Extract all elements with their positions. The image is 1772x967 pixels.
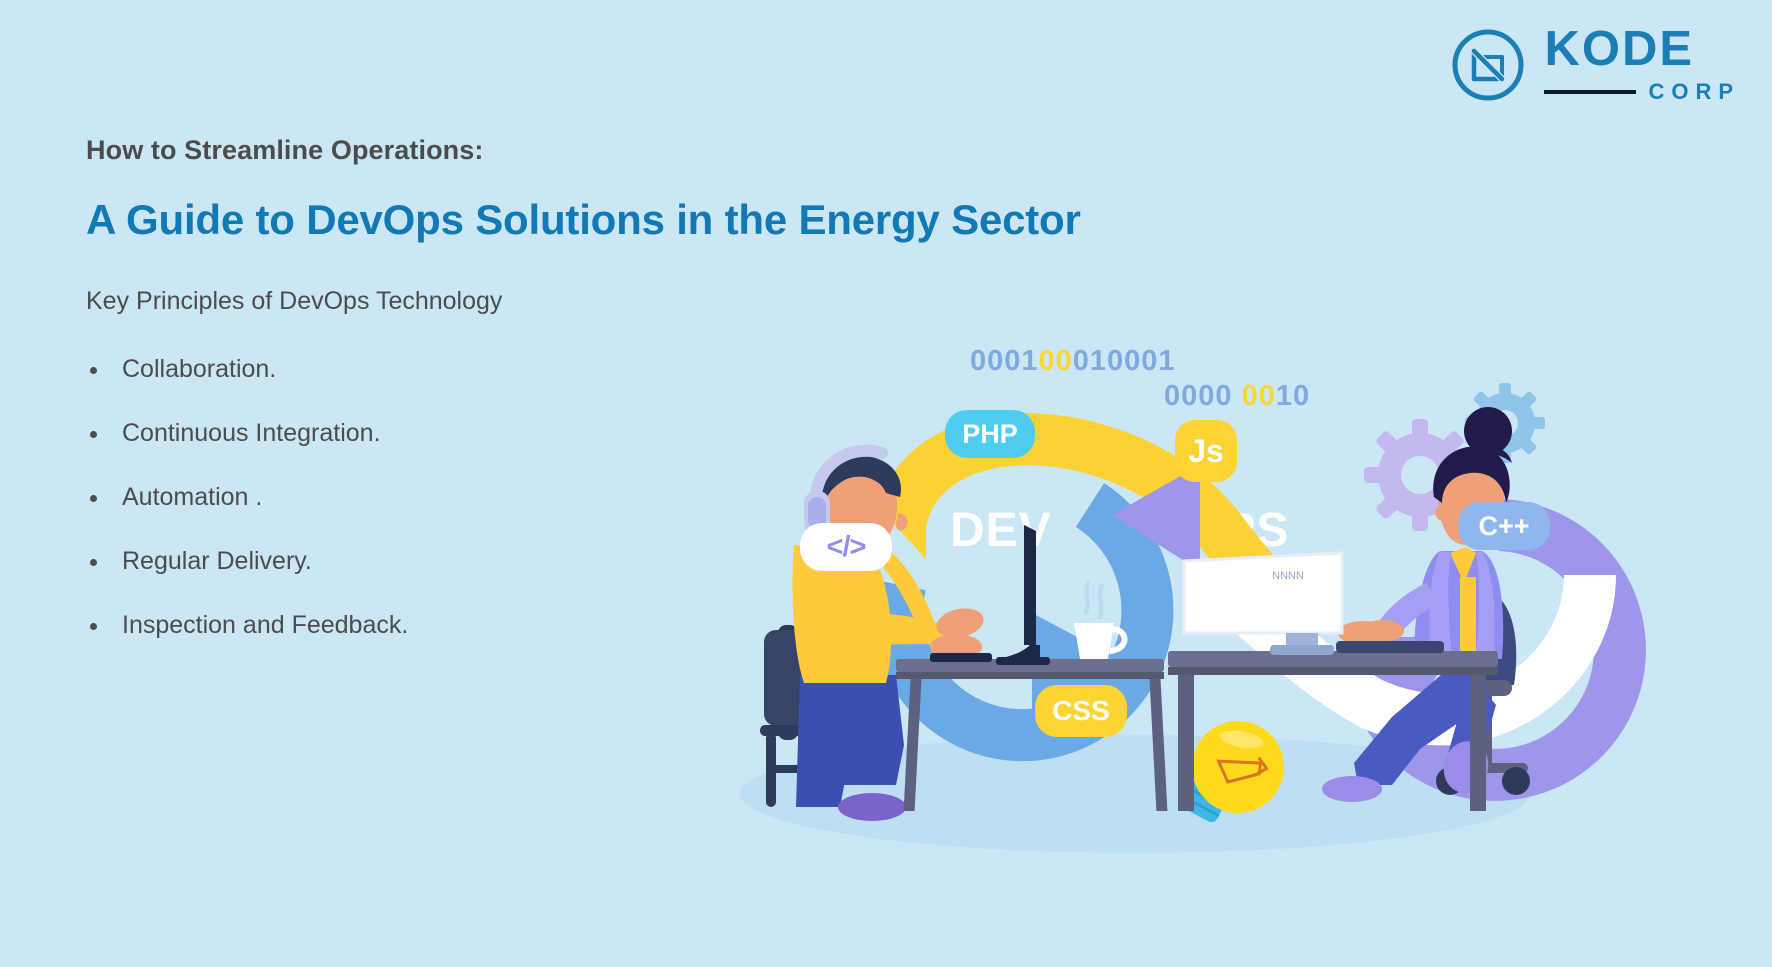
- principles-list: Collaboration. Continuous Integration. A…: [86, 355, 408, 675]
- list-item: Continuous Integration.: [86, 419, 408, 448]
- operator-right-scene: NNNN: [800, 345, 1760, 905]
- code-brackets-icon[interactable]: </>: [800, 523, 892, 571]
- list-item: Inspection and Feedback.: [86, 611, 408, 640]
- list-item: Collaboration.: [86, 355, 408, 384]
- list-item: Regular Delivery.: [86, 547, 408, 576]
- poster-canvas: KODE CORP How to Streamline Operations: …: [0, 0, 1772, 967]
- page-title: A Guide to DevOps Solutions in the Energ…: [86, 196, 1081, 244]
- logo-subname: CORP: [1648, 79, 1740, 105]
- monitor: NNNN: [1184, 553, 1342, 655]
- logo-subname-row: CORP: [1544, 79, 1740, 105]
- keyboard: [1336, 641, 1444, 653]
- svg-text:NNNN: NNNN: [1272, 570, 1304, 582]
- logo-name: KODE: [1544, 26, 1740, 73]
- tag-php[interactable]: PHP: [945, 410, 1035, 458]
- eyebrow-text: How to Streamline Operations:: [86, 135, 483, 166]
- list-item: Automation .: [86, 483, 408, 512]
- k-monogram-circle-icon: [1450, 27, 1526, 103]
- logo-divider: [1544, 90, 1636, 94]
- tag-cpp[interactable]: C++: [1458, 502, 1550, 550]
- section-subtitle: Key Principles of DevOps Technology: [86, 287, 502, 316]
- brand-logo[interactable]: KODE CORP: [1450, 26, 1740, 105]
- devops-illustration: 000100010001 0000 0010: [800, 345, 1760, 905]
- tag-css[interactable]: CSS: [1035, 685, 1127, 737]
- logo-wordmark: KODE CORP: [1544, 26, 1740, 105]
- tag-js[interactable]: Js: [1175, 420, 1237, 482]
